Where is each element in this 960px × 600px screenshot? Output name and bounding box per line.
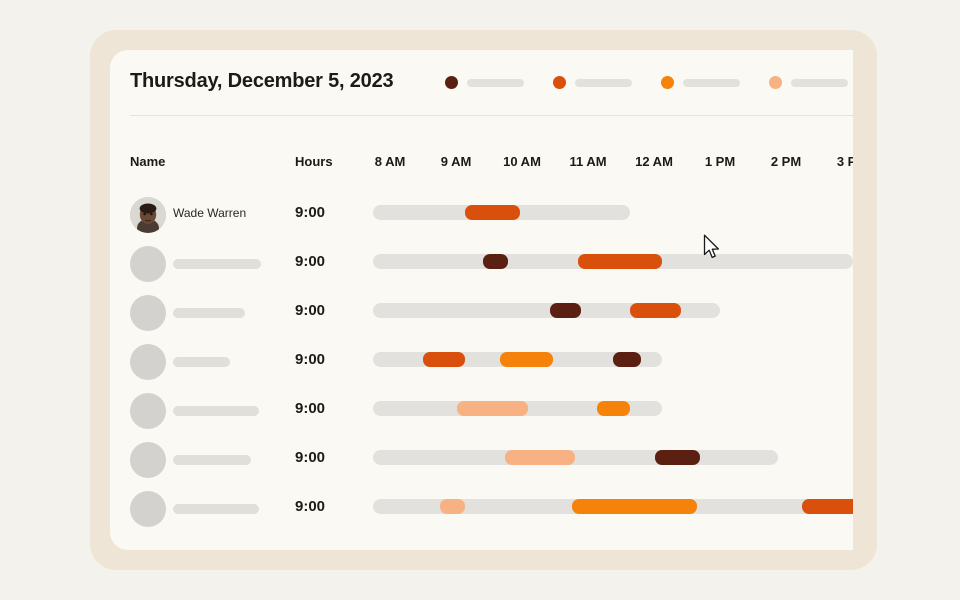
timeline-segment[interactable]	[483, 254, 508, 269]
hours-value: 9:00	[295, 498, 325, 515]
employee-name-placeholder	[173, 406, 259, 416]
employee-name-placeholder	[173, 308, 245, 318]
table-row[interactable]: 9:00	[110, 487, 853, 536]
schedule-rows: Wade Warren9:009:009:009:009:009:009:00	[110, 50, 853, 550]
timeline-segment[interactable]	[505, 450, 575, 465]
timeline-segment[interactable]	[500, 352, 553, 367]
app-frame: Thursday, December 5, 2023 Name Hours 8 …	[90, 30, 877, 570]
timeline-track[interactable]	[373, 450, 778, 465]
timeline-segment[interactable]	[613, 352, 641, 367]
avatar[interactable]	[130, 246, 166, 282]
avatar[interactable]	[130, 295, 166, 331]
avatar[interactable]	[130, 491, 166, 527]
table-row[interactable]: 9:00	[110, 291, 853, 340]
employee-name-placeholder	[173, 259, 261, 269]
table-row[interactable]: 9:00	[110, 438, 853, 487]
timeline-segment[interactable]	[423, 352, 465, 367]
hours-value: 9:00	[295, 351, 325, 368]
hours-value: 9:00	[295, 449, 325, 466]
timeline-segment[interactable]	[802, 499, 853, 514]
avatar[interactable]	[130, 393, 166, 429]
table-row[interactable]: Wade Warren9:00	[110, 193, 853, 242]
hours-value: 9:00	[295, 302, 325, 319]
employee-name: Wade Warren	[173, 206, 246, 220]
timeline-segment[interactable]	[550, 303, 581, 318]
avatar[interactable]	[130, 442, 166, 478]
schedule-card: Thursday, December 5, 2023 Name Hours 8 …	[110, 50, 853, 550]
table-row[interactable]: 9:00	[110, 340, 853, 389]
timeline-segment[interactable]	[597, 401, 630, 416]
timeline-segment[interactable]	[440, 499, 465, 514]
employee-name-placeholder	[173, 357, 230, 367]
timeline-segment[interactable]	[465, 205, 520, 220]
avatar[interactable]	[130, 344, 166, 380]
table-row[interactable]: 9:00	[110, 242, 853, 291]
timeline-segment[interactable]	[572, 499, 697, 514]
timeline-segment[interactable]	[578, 254, 662, 269]
employee-name-placeholder	[173, 504, 259, 514]
timeline-segment[interactable]	[630, 303, 681, 318]
avatar[interactable]	[130, 197, 166, 233]
table-row[interactable]: 9:00	[110, 389, 853, 438]
hours-value: 9:00	[295, 253, 325, 270]
employee-name-placeholder	[173, 455, 251, 465]
hours-value: 9:00	[295, 400, 325, 417]
timeline-segment[interactable]	[457, 401, 528, 416]
timeline-segment[interactable]	[655, 450, 700, 465]
hours-value: 9:00	[295, 204, 325, 221]
